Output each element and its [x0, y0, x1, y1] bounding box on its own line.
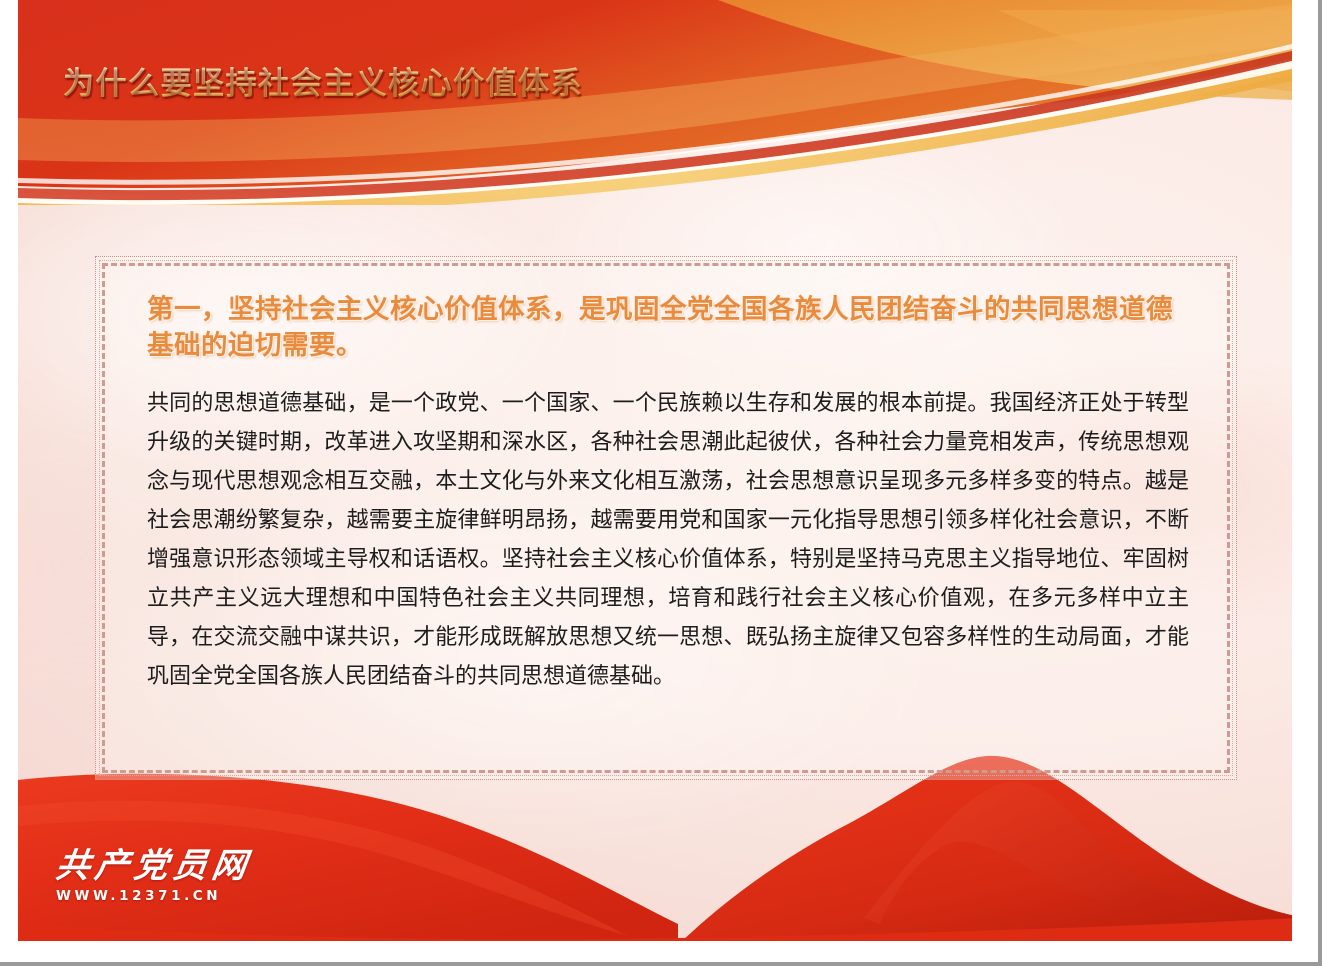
bottom-margin: [0, 941, 1318, 958]
content-card: 第一，坚持社会主义核心价值体系，是巩固全党全国各族人民团结奋斗的共同思想道德基础…: [95, 256, 1237, 780]
left-margin: [0, 0, 18, 962]
header-banner: 为什么要坚持社会主义核心价值体系 为什么要坚持社会主义核心价值体系: [18, 0, 1296, 205]
site-logo[interactable]: 共产党员网 WWW.12371.CN: [56, 849, 251, 904]
content-card-inner: 第一，坚持社会主义核心价值体系，是巩固全党全国各族人民团结奋斗的共同思想道德基础…: [102, 263, 1230, 773]
slide-canvas: 为什么要坚持社会主义核心价值体系 为什么要坚持社会主义核心价值体系 第一，坚持社…: [18, 0, 1296, 945]
logo-url: WWW.12371.CN: [56, 890, 251, 904]
section-heading: 第一，坚持社会主义核心价值体系，是巩固全党全国各族人民团结奋斗的共同思想道德基础…: [147, 292, 1189, 364]
page-title: 为什么要坚持社会主义核心价值体系: [63, 58, 583, 103]
body-paragraph: 共同的思想道德基础，是一个政党、一个国家、一个民族赖以生存和发展的根本前提。我国…: [147, 384, 1189, 696]
logo-wordmark: 共产党员网: [54, 849, 254, 883]
right-margin: [1292, 0, 1314, 962]
poster-page: 为什么要坚持社会主义核心价值体系 为什么要坚持社会主义核心价值体系 第一，坚持社…: [0, 0, 1322, 966]
